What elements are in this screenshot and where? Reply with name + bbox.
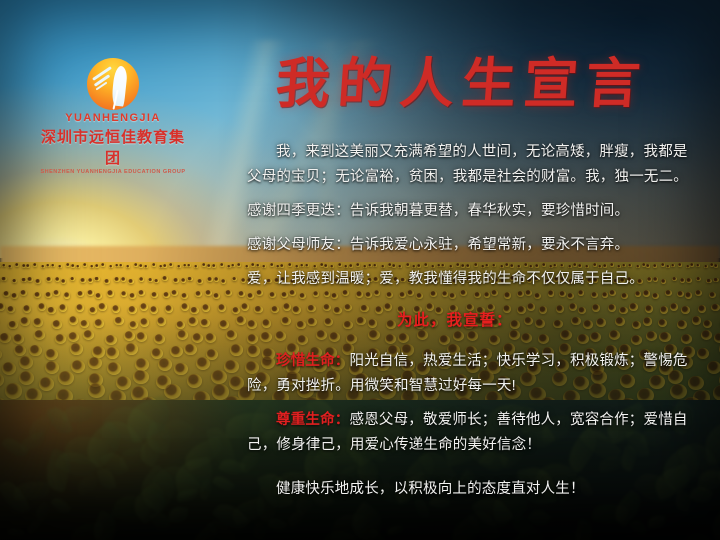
sun-quill-icon xyxy=(87,58,139,110)
quill-feather-icon xyxy=(111,65,128,106)
pledge-heading: 为此，我宣誓： xyxy=(247,308,699,333)
paragraph-3: 感谢父母师友：告诉我爱心永驻，希望常新，要永不言弃。 xyxy=(247,233,699,258)
logo-chinese-name: 深圳市远恒佳教育集团 xyxy=(38,126,188,168)
declaration-body: 我，来到这美丽又充满希望的人世间，无论高矮，胖瘦，我都是父母的宝贝；无论富裕，贫… xyxy=(247,140,699,511)
paragraph-2: 感谢四季更迭：告诉我朝暮更替，春华秋实，要珍惜时间。 xyxy=(247,199,699,224)
vow-1: 珍惜生命：阳光自信，热爱生活；快乐学习，积极锻炼；警惕危险，勇对挫折。用微笑和智… xyxy=(247,349,699,399)
company-logo: YUANHENGJIA 深圳市远恒佳教育集团 SHENZHEN YUANHENG… xyxy=(38,58,188,150)
paragraph-4: 爱，让我感到温暖；爱，教我懂得我的生命不仅仅属于自己。 xyxy=(247,267,699,292)
vow-2: 尊重生命：感恩父母，敬爱师长；善待他人，宽容合作；爱惜自己，修身律己，用爱心传递… xyxy=(247,408,699,458)
vow-2-label: 尊重生命： xyxy=(276,412,350,428)
logo-subtitle: SHENZHEN YUANHENGJIA EDUCATION GROUP xyxy=(38,169,188,175)
poster-canvas: YUANHENGJIA 深圳市远恒佳教育集团 SHENZHEN YUANHENG… xyxy=(0,0,720,540)
logo-english-name: YUANHENGJIA xyxy=(38,112,188,124)
closing-line: 健康快乐地成长，以积极向上的态度直对人生！ xyxy=(247,477,699,502)
poster-title: 我的人生宣言 xyxy=(274,52,658,114)
paragraph-1: 我，来到这美丽又充满希望的人世间，无论高矮，胖瘦，我都是父母的宝贝；无论富裕，贫… xyxy=(247,140,699,190)
vow-1-label: 珍惜生命： xyxy=(276,353,350,369)
